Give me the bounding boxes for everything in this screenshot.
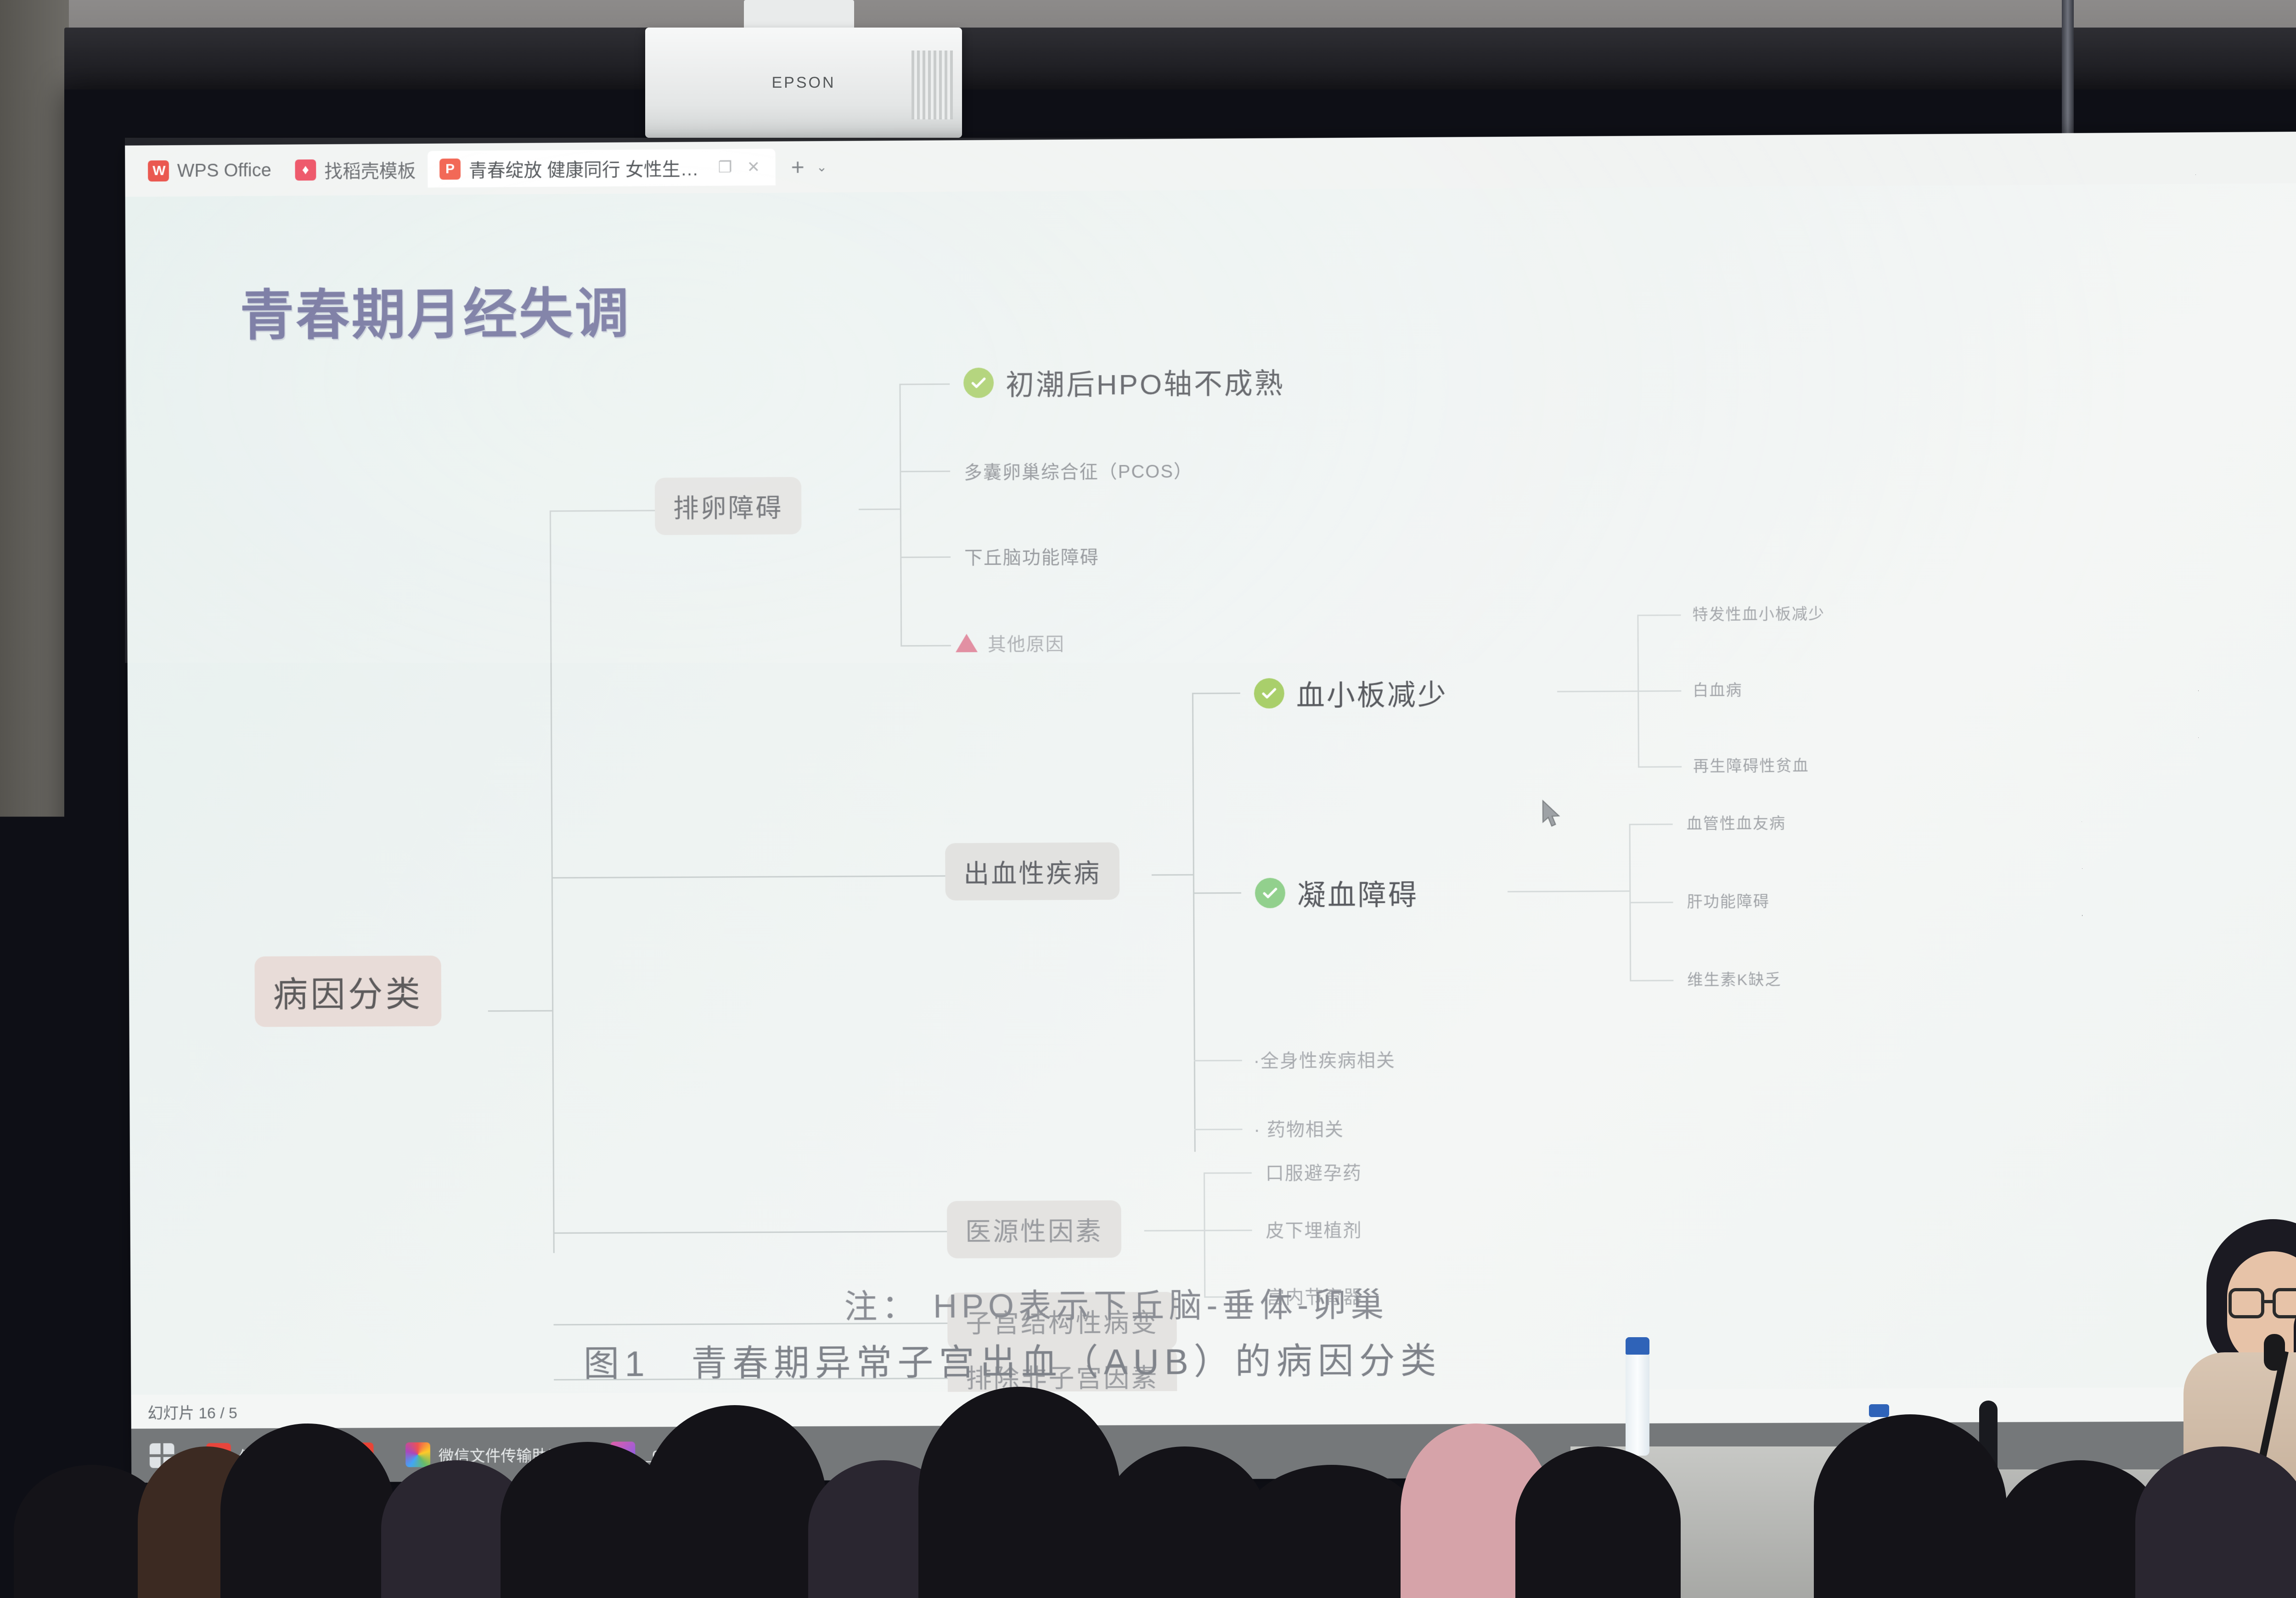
audience-head [220,1424,395,1598]
mindmap-leaf-systemic-disease[interactable]: ·全身性疾病相关 [1254,1046,1396,1073]
connector [1192,692,1240,694]
tab-label: WPS Office [177,160,271,181]
connector [1629,824,1673,825]
mindmap-leaf-hpo-immature[interactable]: 初潮后HPO轴不成熟 [963,360,1285,404]
connector [900,471,950,473]
connector [1508,890,1629,892]
wps-office-window[interactable]: W WPS Office ♦ 找稻壳模板 P 青春绽放 健康同行 女性生殖健 ❐… [125,130,2296,1483]
leaf-label: 皮下埋植剂 [1266,1215,1362,1243]
leaf-label: 多囊卵巢综合征（PCOS） [964,456,1193,484]
mindmap-leaf-subdermal-implant[interactable]: 皮下埋植剂 [1266,1215,1362,1243]
mindmap-node-iatrogenic[interactable]: 医源性因素 [947,1200,1121,1258]
wps-logo-icon: W [148,160,169,181]
tab-docer-templates[interactable]: ♦ 找稻壳模板 [283,151,428,189]
water-bottle [1626,1350,1649,1456]
connector [1144,1230,1204,1232]
podium-microphone-head [2264,1334,2285,1371]
close-tab-icon[interactable]: ✕ [743,157,764,177]
connector [900,645,951,647]
restore-tab-icon[interactable]: ❐ [715,157,735,177]
connector [1193,892,1241,894]
wechat-icon [405,1442,430,1467]
audience-head [1240,1465,1424,1598]
leaf-label: 其他原因 [988,629,1065,656]
connector [1204,1172,1252,1174]
audience-head [918,1387,1120,1598]
docer-icon: ♦ [295,159,316,180]
slide-counter: 幻灯片 16 / 5 [147,1400,237,1423]
mindmap-leaf-pcos[interactable]: 多囊卵巢综合征（PCOS） [964,456,1193,484]
mindmap: 病因分类 排卵障碍 初潮后HPO轴不成熟 [125,181,2296,1429]
connector [899,384,902,645]
leaf-label: 血小板减少 [1296,672,1448,714]
leaf-label: 特发性血小板减少 [1692,601,1825,625]
speaker-glasses [2228,1288,2296,1318]
projector-brand-label: EPSON [771,74,835,92]
water-bottle-cap [1626,1337,1649,1355]
tab-wps-office[interactable]: W WPS Office [136,152,283,190]
leaf-label: 再生障碍性贫血 [1693,753,1809,776]
projector: EPSON [645,28,962,138]
connector [488,1010,552,1012]
leaf-label: 下丘脑功能障碍 [964,542,1099,570]
audience-head [1515,1446,1681,1598]
connector [1194,1060,1242,1061]
warning-triangle-icon [956,634,978,652]
connector [1192,693,1196,1152]
connector [1638,690,1681,692]
connector [1204,1230,1252,1231]
connector [1637,614,1681,616]
slide-note: 注： HPO表示下丘脑-垂体-卵巢 [844,1277,1388,1328]
root-label: 病因分类 [273,966,423,1017]
mindmap-leaf-drug-related[interactable]: · 药物相关 [1254,1114,1344,1142]
mindmap-leaf-hypothalamic[interactable]: 下丘脑功能障碍 [964,542,1099,570]
tab-label: 找稻壳模板 [324,156,416,183]
audience-head [2135,1446,2296,1598]
check-circle-icon [963,367,994,398]
leaf-label: 血管性血友病 [1687,810,1786,833]
mindmap-leaf-thrombocytopenia[interactable]: 血小板减少 [1254,672,1448,714]
check-circle-icon [1255,878,1285,908]
branch-label: 医源性因素 [965,1210,1103,1248]
leaf-label: 初潮后HPO轴不成熟 [1006,360,1285,404]
connector [551,875,945,878]
connector [1152,874,1193,876]
mindmap-leaf-vitamin-k-deficiency[interactable]: 维生素K缺乏 [1687,967,1781,990]
mindmap-leaf-liver-dysfunction[interactable]: 肝功能障碍 [1687,889,1770,912]
leaf-label: · 药物相关 [1254,1114,1344,1142]
leaf-label: 肝功能障碍 [1687,889,1770,912]
figure-caption: 图1 青春期异常子宫出血（AUB）的病因分类 [583,1332,1442,1387]
new-tab-button[interactable]: + [791,153,804,180]
leaf-label: 白血病 [1693,678,1742,701]
connector [859,508,900,510]
connector [550,510,655,512]
mindmap-leaf-von-willebrand[interactable]: 血管性血友病 [1687,810,1786,833]
connector [550,511,555,1253]
connector [1194,1129,1243,1130]
mindmap-root-node[interactable]: 病因分类 [254,956,441,1027]
check-circle-icon [1254,678,1284,709]
mindmap-leaf-leukemia[interactable]: 白血病 [1693,678,1742,701]
tab-label: 青春绽放 健康同行 女性生殖健 [469,154,707,182]
projector-vent-icon [912,51,953,119]
slide-canvas[interactable]: 青春期月经失调 病因分类 排卵障碍 [125,181,2296,1429]
mindmap-node-ovulation-disorder[interactable]: 排卵障碍 [655,477,802,535]
connector [553,1231,947,1233]
connector [900,557,951,558]
powerpoint-icon: P [439,158,461,180]
mindmap-leaf-aplastic-anemia[interactable]: 再生障碍性贫血 [1693,753,1809,776]
mindmap-leaf-itp[interactable]: 特发性血小板减少 [1692,601,1825,625]
branch-label: 排卵障碍 [673,487,783,525]
leaf-label: 凝血障碍 [1297,872,1418,913]
connector [1629,902,1673,903]
mindmap-leaf-coagulopathy[interactable]: 凝血障碍 [1255,872,1418,914]
connector [899,383,950,385]
projection-screen-roller [64,28,2296,96]
mindmap-leaf-oral-contraceptive[interactable]: 口服避孕药 [1266,1158,1362,1185]
leaf-label: 口服避孕药 [1266,1158,1362,1185]
water-bottle-2-cap [1869,1404,1889,1417]
audience-head [1814,1414,2007,1598]
left-wall [0,0,69,1598]
connector [1630,980,1673,981]
tab-presentation-active[interactable]: P 青春绽放 健康同行 女性生殖健 ❐ ✕ [428,149,776,188]
chevron-down-icon[interactable]: ⌄ [816,159,827,174]
connector [1557,691,1638,692]
audience-head [643,1405,827,1598]
new-tab-group[interactable]: + ⌄ [791,153,827,180]
mindmap-leaf-other-causes[interactable]: 其他原因 [956,629,1065,656]
branch-label: 出血性疾病 [963,853,1101,890]
mindmap-node-bleeding-disorders[interactable]: 出血性疾病 [945,842,1120,900]
leaf-label: ·全身性疾病相关 [1254,1046,1396,1073]
lecture-hall-scene: EPSON W WPS Office ♦ 找稻壳模板 P 青春绽放 健康同行 女… [0,0,2296,1598]
connector [1638,766,1682,767]
leaf-label: 维生素K缺乏 [1687,967,1781,990]
